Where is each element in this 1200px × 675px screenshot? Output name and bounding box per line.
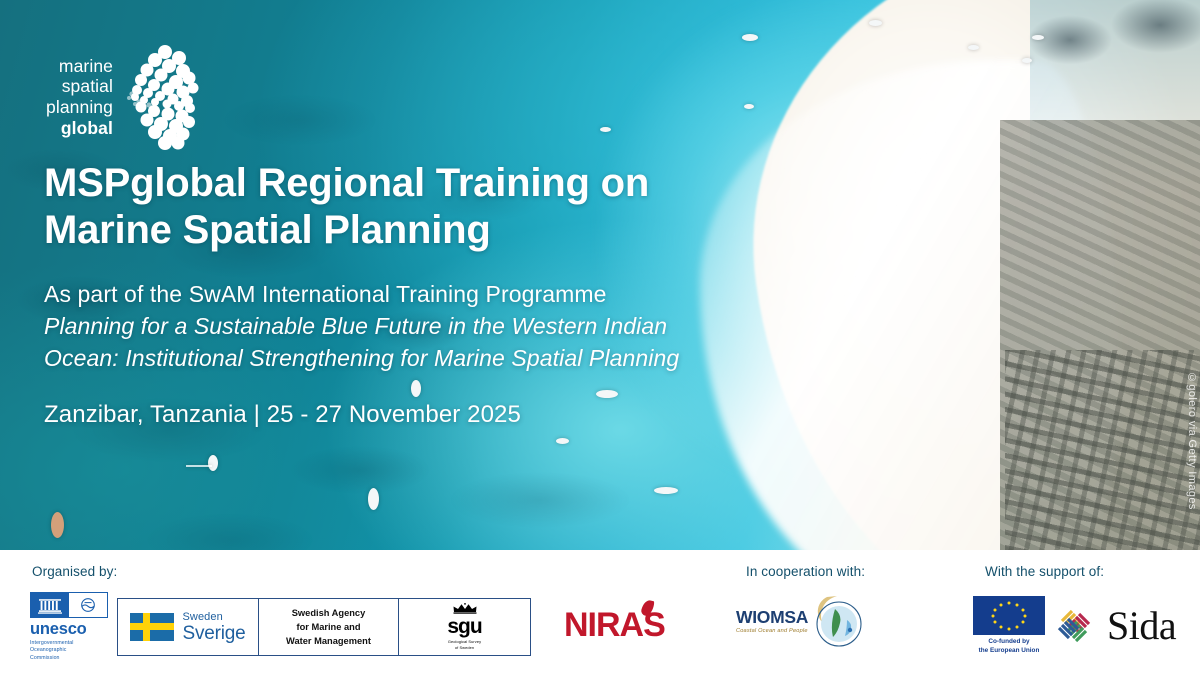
boat-icon [600,127,611,132]
event-banner: marine spatial planning global [0,0,1200,675]
hero-photo: marine spatial planning global [0,0,1200,550]
event-subtitle-block: As part of the SwAM International Traini… [44,278,679,375]
sgu-sub-line-2: of Sweden [447,645,481,651]
unesco-wordmark: unesco [30,621,108,638]
boat-mast [186,465,212,467]
mspglobal-logo: marine spatial planning global [46,42,199,152]
wiomsa-seal-icon [809,594,865,650]
boat-icon [654,487,678,494]
beach-umbrellas [1005,350,1200,550]
logo-line-spatial: spatial [62,76,113,97]
temple-icon [37,596,63,615]
swam-wordmark: Swedish Agency for Marine and Water Mana… [286,606,371,648]
footer-logo-bar: Organised by: In cooperation with: With … [0,550,1200,675]
unesco-ioc-logo[interactable]: unesco Intergovernmental Oceanographic C… [30,592,108,662]
unesco-sub-line-3: Commission [30,655,108,663]
unesco-sub-line-2: Oceanographic [30,647,108,655]
subtitle-line-2: Planning for a Sustainable Blue Future i… [44,310,679,342]
msp-network-mark-icon [121,42,199,152]
sweden-label-en: Sweden [182,612,245,623]
sida-pinwheel-icon [1048,600,1100,652]
logo-line-planning: planning [46,97,113,118]
with-support-of-label: With the support of: [985,564,1104,579]
wiomsa-logo[interactable]: WIOMSA Coastal Ocean and People [736,594,865,650]
eu-caption: Co-funded by the European Union [970,638,1048,656]
photo-credit: ©golero via Getty Images [1186,372,1198,510]
unesco-sub-line-1: Intergovernmental [30,640,108,648]
boat-icon [869,20,882,26]
wiomsa-tagline: Coastal Ocean and People [736,629,808,635]
swam-line-2: for Marine and [286,620,371,634]
eu-caption-line-1: Co-funded by [970,638,1048,647]
sgu-logo[interactable]: sgu Geological Survey of Sweden [398,599,530,655]
organised-by-label: Organised by: [32,564,117,579]
swam-line-3: Water Management [286,634,371,648]
event-place-date: Zanzibar, Tanzania | 25 - 27 November 20… [44,401,679,429]
subtitle-line-3: Ocean: Institutional Strengthening for M… [44,342,679,374]
eu-stars-icon [973,596,1045,635]
swam-logo[interactable]: Swedish Agency for Marine and Water Mana… [258,599,398,655]
boat-icon [208,455,218,471]
sgu-subtitle: Geological Survey of Sweden [447,639,481,650]
boat-icon [742,34,758,41]
event-title: MSPglobal Regional Training on Marine Sp… [44,160,679,254]
sida-wordmark: Sida [1107,606,1176,646]
sweden-wordmark: Sweden Sverige [182,612,245,643]
wiomsa-wordmark-block: WIOMSA Coastal Ocean and People [736,609,808,634]
niras-logo[interactable]: NIRAS [564,608,665,642]
eu-flag-icon [973,596,1045,635]
boat-icon [1032,35,1044,40]
eu-cofunded-logo[interactable]: Co-funded by the European Union [970,596,1048,656]
ioc-emblem-icon [69,593,107,617]
swedish-partners-box: Sweden Sverige Swedish Agency for Marine… [117,598,531,656]
sweden-brand-logo[interactable]: Sweden Sverige [118,599,258,655]
boat-icon [368,488,379,510]
boat-icon [744,104,754,109]
logo-line-global: global [61,118,113,139]
mspglobal-wordmark: marine spatial planning global [46,56,113,139]
sgu-wordmark-block: sgu Geological Survey of Sweden [447,603,481,650]
boat-icon [556,438,569,444]
unesco-temple-icon [31,593,69,617]
sida-logo[interactable]: Sida [1048,600,1176,652]
boat-icon [1022,58,1032,63]
swedish-crown-icon [452,603,478,614]
boat-icon [968,45,979,50]
sgu-name: sgu [447,616,481,637]
wiomsa-name: WIOMSA [736,609,808,627]
unesco-subtitle: Intergovernmental Oceanographic Commissi… [30,640,108,663]
ioc-wave-icon [77,597,99,613]
sweden-label-sv: Sverige [182,624,245,643]
in-cooperation-with-label: In cooperation with: [746,564,865,579]
subtitle-line-1: As part of the SwAM International Traini… [44,278,679,310]
eu-caption-line-2: the European Union [970,647,1048,656]
unesco-emblem-row [30,592,108,618]
boat-icon [51,512,64,538]
hero-text-block: MSPglobal Regional Training on Marine Sp… [44,160,679,429]
logo-line-marine: marine [59,56,113,77]
sweden-flag-icon [130,613,174,641]
swam-line-1: Swedish Agency [286,606,371,620]
